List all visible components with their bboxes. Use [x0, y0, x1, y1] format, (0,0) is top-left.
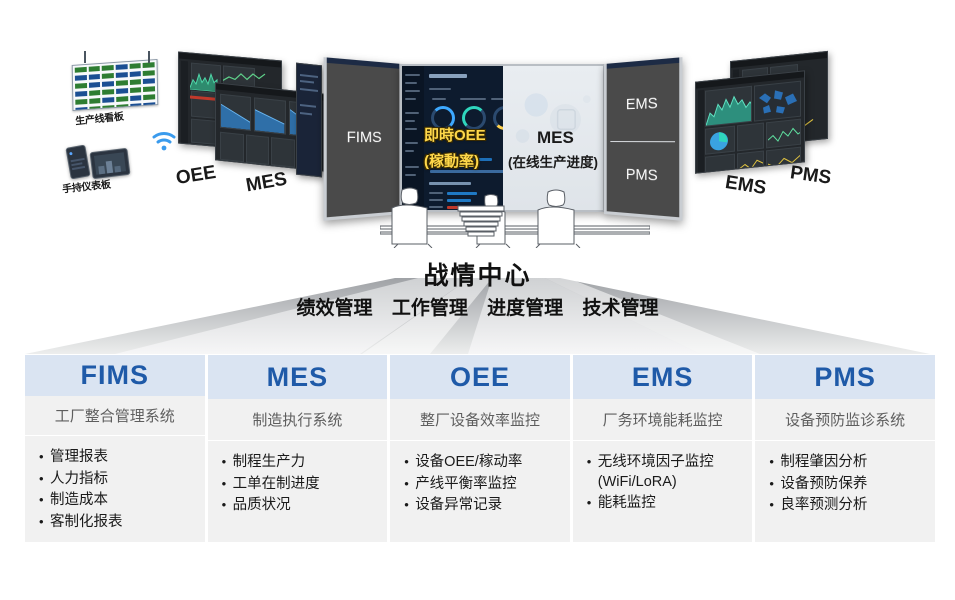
architecture-illustration: 生产线看板 手持仪表板 [0, 0, 955, 260]
column-fims-subtitle: 工厂整合管理系统 [25, 396, 205, 436]
bullet-item: 能耗监控 [587, 494, 753, 514]
bullet-item: 设备OEE/稼动率 [404, 453, 570, 473]
ems-thumbnail-label: EMS [724, 172, 768, 200]
bullet-item: 无线环境因子监控 (WiFi/LoRA) [587, 453, 753, 492]
column-oee-code: OEE [390, 355, 570, 399]
subitem-technology: 技术管理 [582, 298, 658, 319]
column-mes-subtitle: 制造执行系统 [208, 399, 388, 441]
column-pms-code: PMS [755, 355, 935, 399]
column-ems-subtitle: 厂务环境能耗监控 [573, 399, 753, 441]
monitor-fims-label: FIMS [327, 128, 400, 146]
column-oee-subtitle: 整厂设备效率监控 [390, 399, 570, 441]
production-line-board-label: 生产线看板 [74, 108, 124, 128]
handheld-tablet-icon [89, 148, 130, 179]
slide-root: 生产线看板 手持仪表板 [0, 0, 955, 600]
column-pms-bullets: 制程肇因分析 设备预防保养 良率预测分析 [755, 441, 935, 542]
handheld-dashboard-label: 手持仪表板 [61, 176, 111, 196]
conference-room-lineart [380, 186, 650, 248]
column-fims: FIMS 工厂整合管理系统 管理报表 人力指标 制造成本 客制化报表 [25, 355, 205, 542]
column-pms-subtitle: 设备预防监诊系统 [755, 399, 935, 441]
war-room-title: 战情中心 [0, 256, 955, 292]
bullet-item: 良率预测分析 [769, 496, 935, 516]
monitor-pms-label: PMS [607, 165, 680, 186]
column-mes: MES 制造执行系统 制程生产力 工单在制进度 品质状况 [208, 355, 388, 542]
column-pms: PMS 设备预防监诊系统 制程肇因分析 设备预防保养 良率预测分析 [755, 355, 935, 542]
mes-tag-subtitle: (在线生产进度) [508, 151, 598, 171]
board-leg-right [148, 51, 150, 63]
bullet-item: 制程肇因分析 [769, 453, 935, 473]
column-oee: OEE 整厂设备效率监控 设备OEE/稼动率 产线平衡率监控 设备异常记录 [390, 355, 570, 542]
column-fims-bullets: 管理报表 人力指标 制造成本 客制化报表 [25, 436, 205, 542]
bullet-item: 产线平衡率监控 [404, 475, 570, 495]
left-edge-screen [296, 63, 322, 178]
production-line-board-icon [72, 59, 159, 111]
column-oee-bullets: 设备OEE/稼动率 产线平衡率监控 设备异常记录 [390, 441, 570, 542]
ems-dashboard-thumbnail [695, 70, 805, 174]
bullet-item: 制造成本 [39, 491, 205, 511]
column-ems: EMS 厂务环境能耗监控 无线环境因子监控 (WiFi/LoRA) 能耗监控 [573, 355, 753, 542]
bullet-item: 设备预防保养 [769, 475, 935, 495]
wifi-icon [150, 128, 178, 152]
bullet-item: 品质状况 [222, 496, 388, 516]
bullet-item: 设备异常记录 [404, 496, 570, 516]
board-leg-left [84, 51, 86, 63]
handheld-phone-icon [65, 145, 90, 180]
column-fims-code: FIMS [25, 355, 205, 396]
column-ems-bullets: 无线环境因子监控 (WiFi/LoRA) 能耗监控 [573, 441, 753, 542]
war-room-subitems: 绩效管理 工作管理 进度管理 技术管理 [0, 293, 955, 320]
column-ems-code: EMS [573, 355, 753, 399]
oee-callout-line2: (稼動率) [424, 150, 479, 171]
subitem-performance: 绩效管理 [297, 298, 373, 319]
column-mes-code: MES [208, 355, 388, 399]
monitor-ems-label: EMS [607, 93, 680, 114]
oee-thumbnail-label: OEE [175, 162, 218, 190]
system-modules-table: FIMS 工厂整合管理系统 管理报表 人力指标 制造成本 客制化报表 MES 制… [25, 355, 935, 542]
bullet-item: 制程生产力 [222, 453, 388, 473]
bullet-item: 人力指标 [39, 470, 205, 490]
column-mes-bullets: 制程生产力 工单在制进度 品质状况 [208, 441, 388, 542]
bullet-item: 工单在制进度 [222, 475, 388, 495]
mes-thumbnail-label: MES [244, 169, 288, 198]
oee-callout-line1: 即時OEE [424, 124, 486, 145]
subitem-progress: 进度管理 [487, 298, 563, 319]
bullet-item: 管理报表 [39, 448, 205, 468]
pms-thumbnail-label: PMS [789, 162, 833, 190]
bullet-item: 客制化报表 [39, 513, 205, 533]
mes-tag-title: MES [537, 128, 574, 148]
subitem-work: 工作管理 [392, 298, 468, 319]
